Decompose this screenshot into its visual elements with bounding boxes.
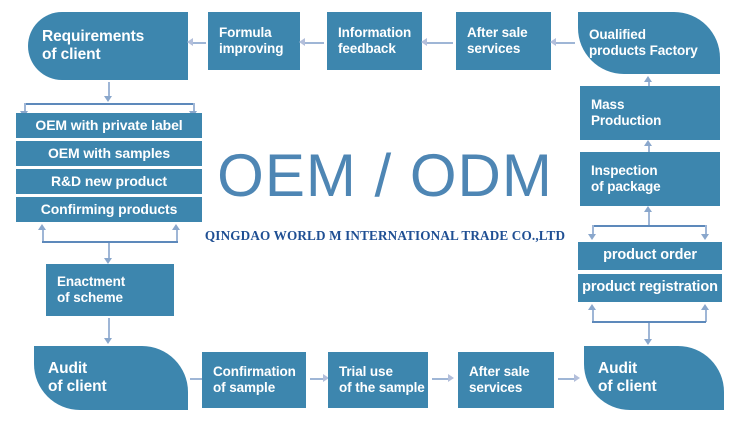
node-formula-improving[interactable]: Formula improving [208, 12, 300, 70]
node-product-registration[interactable]: product registration [578, 274, 722, 302]
connector-order-to-inspection [648, 212, 650, 226]
node-audit-of-client-left[interactable]: Audit of client [34, 346, 188, 410]
connector-aftersale-to-auditright [558, 378, 575, 380]
node-mass-production[interactable]: Mass Production [580, 86, 720, 140]
arrowhead-mass-to-factory-icon [644, 76, 652, 82]
arrowhead-trialuse-to-aftersale-icon [448, 374, 454, 382]
arrowhead-infofeedback-to-formula-icon [299, 38, 305, 46]
node-confirmation-of-sample[interactable]: Confirmation of sample [202, 352, 306, 408]
node-after-sale-services-top[interactable]: After sale services [456, 12, 551, 70]
node-product-order[interactable]: product order [578, 242, 722, 270]
node-oem-with-private-label[interactable]: OEM with private label [16, 113, 202, 138]
arrowhead-requirements-down-icon [104, 96, 112, 102]
arrowhead-inspection-to-mass-icon [644, 140, 652, 146]
connector-factory-to-aftersale [555, 42, 575, 44]
arrowhead-right-merge-to-audit-icon [644, 339, 652, 345]
node-after-sale-services-bottom[interactable]: After sale services [458, 352, 554, 408]
node-oem-with-samples[interactable]: OEM with samples [16, 141, 202, 166]
arrowhead-right-split-right-icon [701, 234, 709, 240]
arrowhead-enactment-to-audit-icon [104, 338, 112, 344]
arrowhead-right-split-left-icon [588, 234, 596, 240]
arrowhead-aftersale-to-infofeedback-icon [421, 38, 427, 46]
arrowhead-order-to-inspection-icon [644, 206, 652, 212]
node-requirements-of-client[interactable]: Requirements of client [28, 12, 188, 80]
node-enactment-of-scheme[interactable]: Enactment of scheme [46, 264, 174, 316]
connector-confirmation-to-trialuse [310, 378, 324, 380]
connector-enactment-to-audit [108, 318, 110, 340]
connector-formula-to-requirements [192, 42, 206, 44]
node-trial-use-of-the-sample[interactable]: Trial use of the sample [328, 352, 428, 408]
node-rd-new-product[interactable]: R&D new product [16, 169, 202, 194]
connector-right-split-bar [592, 225, 706, 227]
arrowhead-aftersale-to-auditright-icon [574, 374, 580, 382]
node-confirming-products[interactable]: Confirming products [16, 197, 202, 222]
oem-odm-flow-diagram: Requirements of client Formula improving… [0, 0, 750, 424]
node-qualified-products-factory[interactable]: Oualified products Factory [578, 12, 720, 74]
connector-split-bar-top [24, 103, 194, 105]
connector-trialuse-to-aftersale [432, 378, 449, 380]
arrowhead-formula-to-requirements-icon [187, 38, 193, 46]
company-name: QINGDAO WORLD M INTERNATIONAL TRADE CO.,… [185, 228, 585, 244]
connector-aftersale-to-infofeedback [426, 42, 453, 44]
connector-infofeedback-to-formula [304, 42, 324, 44]
node-audit-of-client-right[interactable]: Audit of client [584, 346, 724, 410]
node-information-feedback[interactable]: Information feedback [327, 12, 422, 70]
connector-merge-bar [42, 241, 178, 243]
wordmark-oem-odm: OEM / ODM [205, 146, 565, 206]
node-inspection-of-package[interactable]: Inspection of package [580, 152, 720, 206]
arrowhead-factory-to-aftersale-icon [550, 38, 556, 46]
